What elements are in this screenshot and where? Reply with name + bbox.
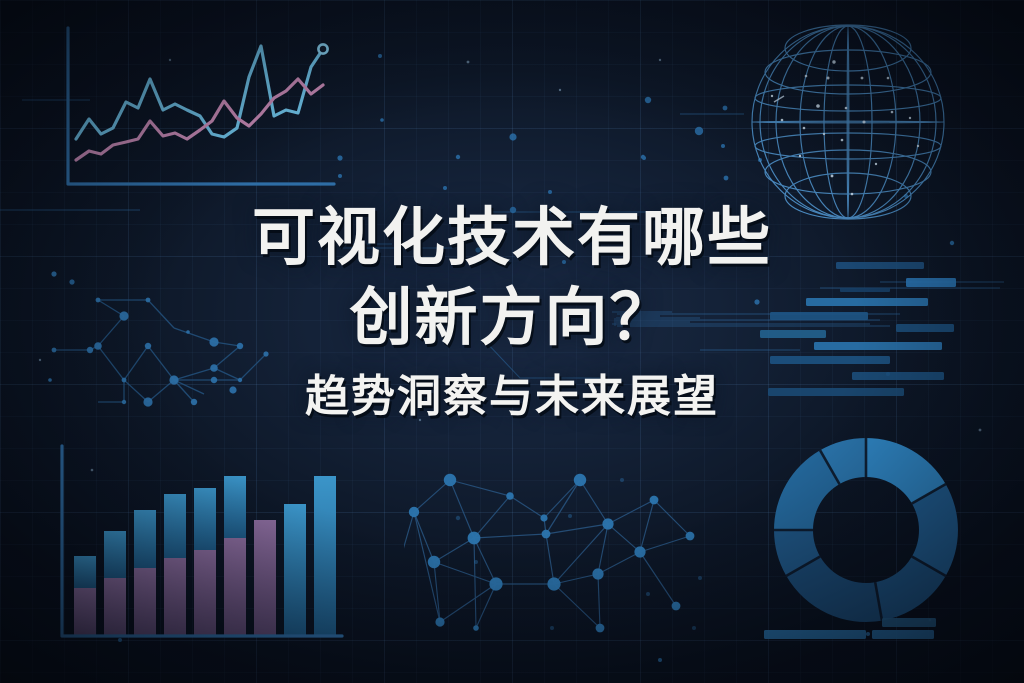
bar-chart-bars [74,476,336,636]
headline-block: 可视化技术有哪些 创新方向？ 趋势洞察与未来展望 [0,198,1024,428]
globe-wireframe [742,16,954,228]
bar-chart [46,438,346,650]
title-line-1: 可视化技术有哪些 [0,198,1024,278]
bar-chart-overflow-bar [330,438,366,650]
globe-points [771,60,919,195]
subtitle-line: 趋势洞察与未来展望 [0,366,1024,428]
bottom-data-bars [744,598,1024,668]
line-chart-axes [68,28,334,184]
line-chart-series-pink [76,79,323,160]
line-chart-end-marker [318,44,327,53]
globe-highlight [774,96,784,102]
poster-canvas: 可视化技术有哪些 创新方向？ 趋势洞察与未来展望 [0,0,1024,683]
network-graph-center [404,438,740,664]
line-chart [46,22,346,198]
title-line-2: 创新方向？ [0,278,1024,358]
